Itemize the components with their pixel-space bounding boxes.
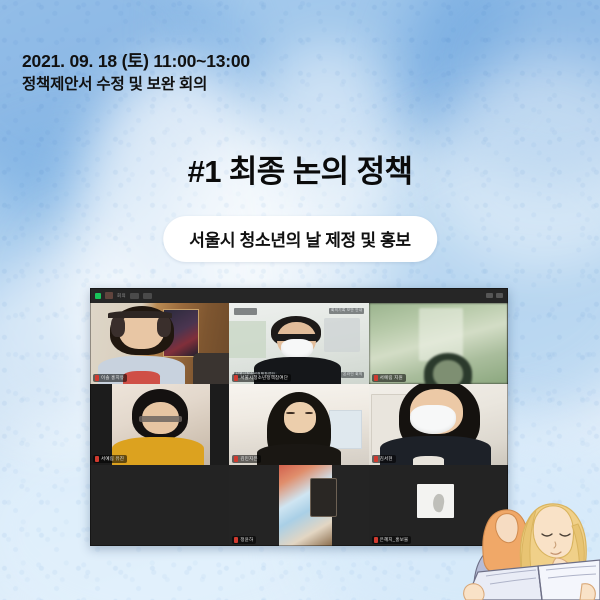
participant-name-badge: 정윤하	[232, 536, 256, 544]
zoom-app-icon	[105, 292, 113, 299]
participant-name: 서예림 유진	[101, 456, 124, 462]
participant-name: 김서현	[380, 456, 393, 462]
participant-name-badge: 김민지은	[232, 455, 260, 463]
meeting-date-line: 2021. 09. 18 (토) 11:00~13:00	[22, 50, 250, 73]
mic-muted-icon	[374, 456, 378, 462]
mic-muted-icon	[234, 537, 238, 543]
poster-canvas: 2021. 09. 18 (토) 11:00~13:00 정책제안서 수정 및 …	[0, 0, 600, 600]
mic-muted-icon	[95, 456, 99, 462]
shared-screen-note: 회의기록 보안 안내	[329, 308, 364, 314]
participant-name-badge: 은혜지_홍보물	[372, 536, 412, 544]
video-feed	[369, 303, 508, 384]
participant-name-badge: 서예림 유진	[93, 455, 127, 463]
participant-tile[interactable]: 김서현	[369, 384, 508, 465]
mic-muted-icon	[374, 375, 378, 381]
students-reading-illustration	[422, 454, 600, 600]
participant-name-badge: 김서현	[372, 455, 396, 463]
video-feed	[90, 303, 229, 384]
shared-screen-footer: 온라인 회의	[341, 372, 364, 378]
maximize-icon[interactable]	[496, 293, 503, 298]
video-feed: 회의기록 보안 안내 서울시청소년정책참여단 온라인 회의	[229, 303, 368, 384]
participant-name: 서울시청소년정책참여단	[240, 375, 288, 381]
policy-pill: 서울시 청소년의 날 제정 및 홍보	[163, 216, 437, 262]
mic-muted-icon	[234, 456, 238, 462]
participant-name-badge: 서울시청소년정책참여단	[232, 374, 291, 382]
participant-tile-active-speaker[interactable]: 회의기록 보안 안내 서울시청소년정책참여단 온라인 회의 서울시청소년정책참여…	[229, 303, 368, 384]
participant-tile[interactable]: 서예림 지원	[369, 303, 508, 384]
video-feed	[90, 384, 229, 465]
titlebar-chip-icon[interactable]	[130, 293, 139, 299]
mic-muted-icon	[234, 375, 238, 381]
participant-name: 김민지은	[240, 456, 257, 462]
participant-tile[interactable]: 김민지은	[229, 384, 368, 465]
video-feed	[90, 465, 229, 546]
recording-indicator-icon	[95, 293, 101, 299]
window-titlebar[interactable]: 회의	[90, 288, 508, 303]
participant-name: 서예림 지원	[380, 375, 403, 381]
mic-muted-icon	[374, 537, 378, 543]
meeting-subject-line: 정책제안서 수정 및 보완 회의	[22, 75, 250, 95]
participant-name: 이솔 홍지유	[101, 375, 124, 381]
mic-muted-icon	[95, 375, 99, 381]
participant-name: 정윤하	[240, 537, 253, 543]
participant-tile[interactable]: 이솔 홍지유	[90, 303, 229, 384]
titlebar-chip-icon[interactable]	[143, 293, 152, 299]
participant-name-badge: 이솔 홍지유	[93, 374, 127, 382]
participant-tile[interactable]: 정윤하	[229, 465, 368, 546]
policy-pill-label: 서울시 청소년의 날 제정 및 홍보	[189, 231, 411, 250]
participant-name-badge: 서예림 지원	[372, 374, 406, 382]
participant-tile[interactable]	[90, 465, 229, 546]
video-feed	[229, 384, 368, 465]
window-title: 회의	[117, 293, 126, 299]
page-title: #1 최종 논의 정책	[0, 146, 600, 191]
titlebar-right-controls[interactable]	[486, 293, 503, 298]
video-feed	[229, 465, 368, 546]
participant-tile[interactable]: 서예림 유진	[90, 384, 229, 465]
video-feed	[369, 384, 508, 465]
participant-name: 은혜지_홍보물	[380, 537, 409, 543]
minimize-icon[interactable]	[486, 293, 493, 298]
header-block: 2021. 09. 18 (토) 11:00~13:00 정책제안서 수정 및 …	[22, 50, 250, 96]
